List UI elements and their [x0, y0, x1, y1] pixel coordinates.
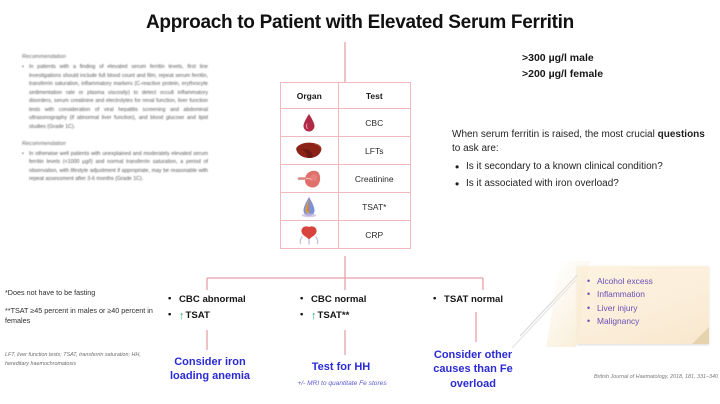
footnote-tsat-threshold: **TSAT ≥45 percent in males or ≥40 perce… — [5, 306, 157, 327]
list-item: Is it secondary to a known clinical cond… — [452, 160, 710, 174]
conclusion-iron-loading-anemia: Consider iron loading anemia — [155, 355, 265, 384]
conclusion-other-causes: Consider other causes than Fe overload — [421, 348, 525, 391]
note-folded-corner-icon — [692, 327, 709, 344]
list-item: Malignancy — [586, 315, 703, 328]
questions-list: Is it secondary to a known clinical cond… — [452, 160, 710, 191]
table-row: CRP — [281, 221, 411, 249]
test-name: CRP — [338, 221, 410, 249]
questions-lead-before: When serum ferritin is raised, the most … — [452, 129, 658, 140]
branch-criterion: CBC abnormal — [168, 292, 246, 308]
test-name: CBC — [338, 109, 410, 137]
column-header-test: Test — [338, 83, 410, 109]
liver-icon — [281, 137, 339, 165]
organ-test-table: Organ Test CBC LFTs — [280, 82, 411, 249]
questions-lead-after: to ask are: — [452, 143, 499, 154]
branch-tsat-normal: TSAT normal — [433, 292, 503, 308]
test-name: LFTs — [338, 137, 410, 165]
abbreviations-legend: LFT, liver function tests; TSAT, transfe… — [5, 351, 145, 369]
test-name: Creatinine — [338, 165, 410, 193]
list-item: Is it associated with iron overload? — [452, 177, 710, 191]
column-header-organ: Organ — [281, 83, 339, 109]
table-header-row: Organ Test — [281, 83, 411, 109]
questions-lead-bold: questions — [658, 129, 705, 140]
source-citation: British Journal of Haematology, 2018, 18… — [560, 374, 718, 380]
footnote-fasting: *Does not have to be fasting — [5, 288, 155, 298]
conclusion-mri-subnote: +/- MRI to quantitate Fe stores — [272, 380, 412, 387]
recommendation-label-1: Recommendation — [22, 54, 208, 60]
arrow-up-icon: ↑ — [179, 311, 185, 322]
list-item: Inflammation — [586, 288, 703, 301]
blood-drop-icon — [281, 109, 339, 137]
test-name: TSAT* — [338, 193, 410, 221]
reference-range-male: >300 µg/l male — [522, 50, 603, 66]
secondary-causes-list: Alcohol excess Inflammation Liver injury… — [577, 266, 709, 328]
conclusion-test-for-hh: Test for HH — [288, 360, 394, 374]
list-item: Alcohol excess — [586, 275, 703, 288]
branch-criterion: ↑TSAT** — [300, 308, 366, 324]
branch-criterion-label: TSAT — [186, 310, 210, 321]
arrow-up-icon: ↑ — [311, 311, 317, 322]
branch-criterion: TSAT normal — [433, 292, 503, 308]
table-row: TSAT* — [281, 193, 411, 221]
table-row: LFTs — [281, 137, 411, 165]
inflammation-icon — [281, 221, 339, 249]
branch-criterion-label: CBC abnormal — [179, 294, 246, 305]
crucial-questions-block: When serum ferritin is raised, the most … — [452, 128, 710, 194]
bone-marrow-icon — [281, 193, 339, 221]
secondary-causes-note: Alcohol excess Inflammation Liver injury… — [577, 266, 709, 344]
branch-cbc-abnormal: CBC abnormal ↑TSAT — [168, 292, 246, 323]
branch-criterion-label: TSAT normal — [444, 294, 503, 305]
branch-criterion-label: CBC normal — [311, 294, 366, 305]
table-row: CBC — [281, 109, 411, 137]
questions-lead-text: When serum ferritin is raised, the most … — [452, 128, 710, 156]
kidney-icon — [281, 165, 339, 193]
recommendation-label-2: Recommendation — [22, 141, 208, 147]
branch-criterion-label: TSAT** — [318, 310, 350, 321]
list-item: Liver injury — [586, 302, 703, 315]
page-title: Approach to Patient with Elevated Serum … — [0, 12, 720, 34]
ferritin-reference-range: >300 µg/l male >200 µg/l female — [522, 50, 603, 83]
table-row: Creatinine — [281, 165, 411, 193]
branch-cbc-normal: CBC normal ↑TSAT** — [300, 292, 366, 323]
recommendation-text-1: In patients with a finding of elevated s… — [22, 63, 208, 132]
reference-range-female: >200 µg/l female — [522, 66, 603, 82]
recommendation-text-2: In otherwise well patients with unexplai… — [22, 150, 208, 184]
guideline-excerpt-panel: Recommendation In patients with a findin… — [22, 54, 208, 184]
branch-criterion: ↑TSAT — [168, 308, 246, 324]
branch-criterion: CBC normal — [300, 292, 366, 308]
